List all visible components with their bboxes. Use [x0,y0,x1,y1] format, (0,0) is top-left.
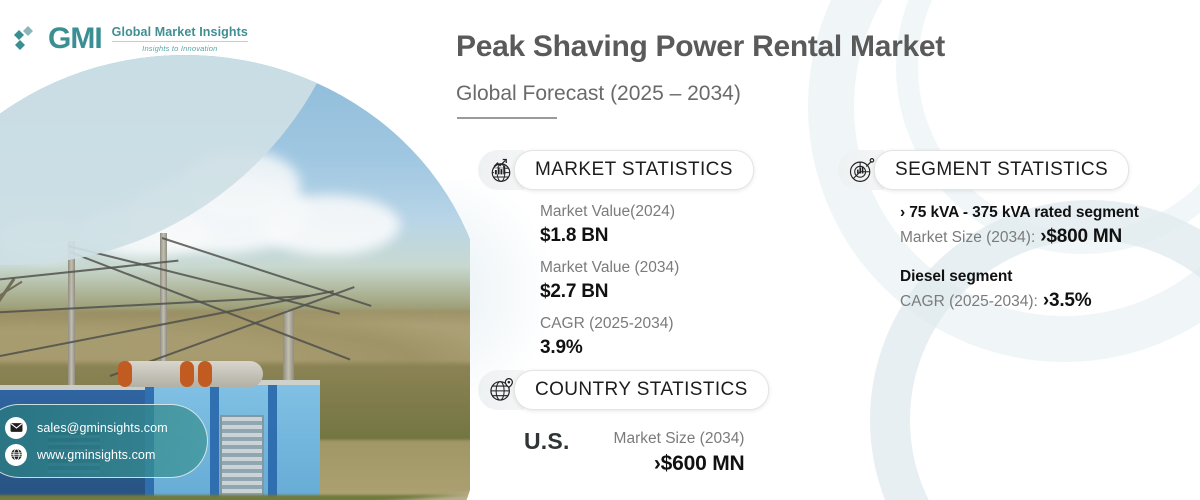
contact-badge: sales@gminsights.com www.gminsights.com [0,404,208,478]
country-statistics-block: COUNTRY STATISTICS U.S. Market Size (203… [478,370,769,476]
segment-2-metric: CAGR (2025-2034): ›3.5% [900,288,1200,313]
market-statistics-heading: MARKET STATISTICS [514,150,754,190]
logo-tagline: Insights to Innovation [112,44,248,53]
market-value-2024-label: Market Value(2024) [540,201,754,223]
segment-1-metric-value: ›$800 MN [1040,224,1122,249]
contact-email-text: sales@gminsights.com [37,421,168,435]
segment-statistics-heading: SEGMENT STATISTICS [874,150,1129,190]
contact-website-text: www.gminsights.com [37,448,156,462]
segment-1-metric-label: Market Size (2034): [900,227,1035,249]
country-name: U.S. [524,428,570,455]
segment-2-metric-value: ›3.5% [1043,288,1092,313]
market-statistics-header: MARKET STATISTICS [478,150,754,190]
segment-statistics-block: SEGMENT STATISTICS › 75 kVA - 375 kVA ra… [838,150,1200,313]
country-metric-label: Market Size (2034) [614,428,745,450]
contact-website-row[interactable]: www.gminsights.com [5,444,207,466]
country-metric-value: ›$600 MN [654,451,745,476]
segment-1-metric: Market Size (2034): ›$800 MN [900,224,1200,249]
hero-photo-panel: sales@gminsights.com www.gminsights.com [0,0,470,500]
country-statistics-header: COUNTRY STATISTICS [478,370,769,410]
logo-wordmark: Global Market Insights Insights to Innov… [112,25,248,53]
country-statistics-list: U.S. Market Size (2034) ›$600 MN [524,428,769,476]
logo-initials: GMI [48,24,102,54]
contact-email-row[interactable]: sales@gminsights.com [5,417,207,439]
segment-1-title: › 75 kVA - 375 kVA rated segment [900,202,1200,223]
cagr-value: 3.9% [540,335,754,360]
cagr-label: CAGR (2025-2034) [540,313,754,335]
market-statistics-block: MARKET STATISTICS Market Value(2024) $1.… [478,150,754,369]
segment-statistics-list: › 75 kVA - 375 kVA rated segment Market … [900,202,1200,313]
infographic-canvas: sales@gminsights.com www.gminsights.com … [0,0,1200,500]
logo-company-name: Global Market Insights [112,25,248,39]
segment-statistics-header: SEGMENT STATISTICS [838,150,1200,190]
market-value-2034-value: $2.7 BN [540,279,754,304]
market-value-2034-label: Market Value (2034) [540,257,754,279]
gmi-diamond-logo-icon [14,24,40,54]
company-logo[interactable]: GMI Global Market Insights Insights to I… [14,24,248,54]
country-metric: Market Size (2034) ›$600 MN [614,428,745,476]
globe-icon [5,444,27,466]
segment-spacer [900,249,1200,266]
market-statistics-list: Market Value(2024) $1.8 BN Market Value … [540,201,754,360]
page-title: Peak Shaving Power Rental Market [456,30,1156,64]
logo-divider [112,41,248,42]
country-statistics-heading: COUNTRY STATISTICS [514,370,769,410]
page-subtitle: Global Forecast (2025 – 2034) [456,82,741,106]
market-value-2024-value: $1.8 BN [540,223,754,248]
envelope-icon [5,417,27,439]
segment-2-title: Diesel segment [900,266,1200,287]
title-divider [457,117,557,119]
segment-2-metric-label: CAGR (2025-2034): [900,291,1038,313]
